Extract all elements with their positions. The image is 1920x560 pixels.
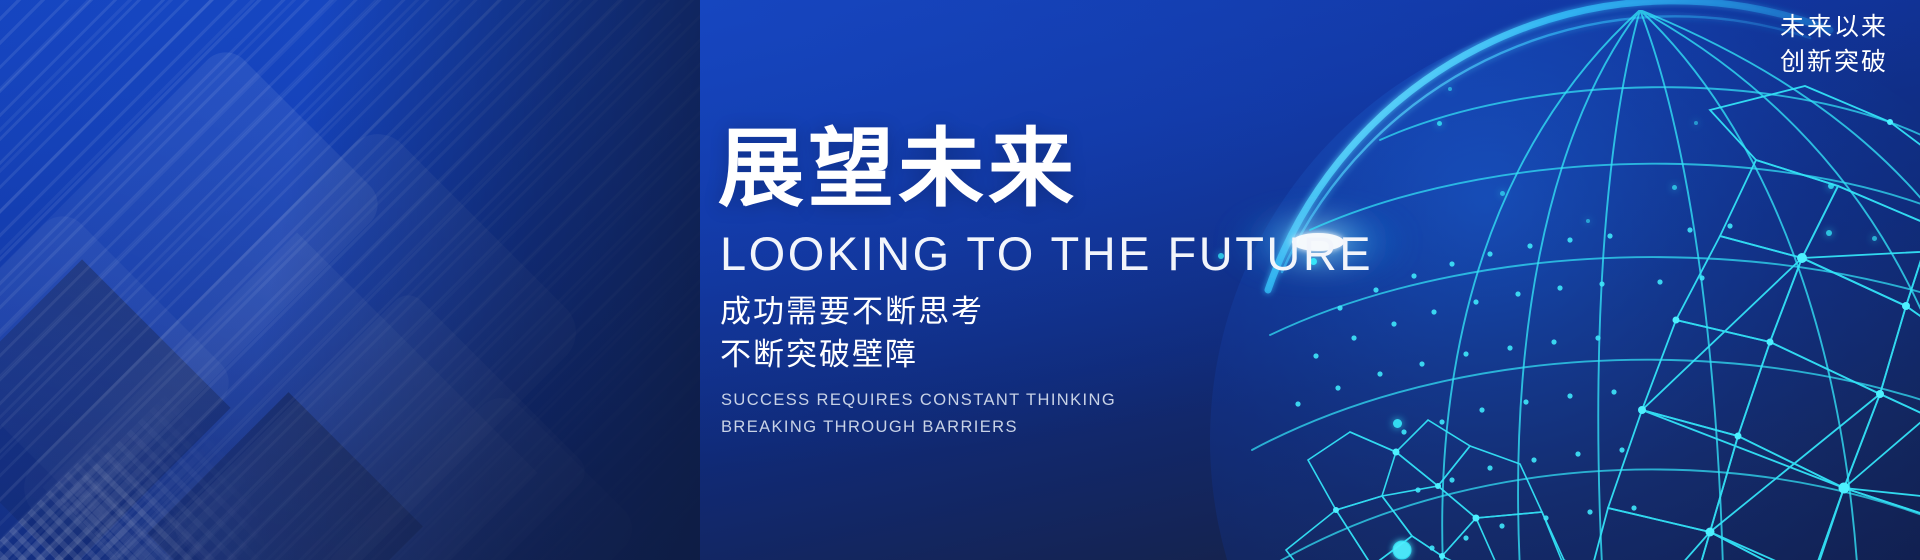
subtitle-chinese-line-1: 成功需要不断思考 <box>720 291 1338 332</box>
left-decoration-art <box>0 0 700 560</box>
corner-tagline: 未来以来 创新突破 <box>1780 10 1888 79</box>
tagline-line-1: 未来以来 <box>1780 10 1888 45</box>
subtitle-english-line-1: SUCCESS REQUIRES CONSTANT THINKING <box>721 387 1338 414</box>
headline-block: 展望未来 LOOKING TO THE FUTURE 成功需要不断思考 不断突破… <box>718 126 1338 441</box>
page-title-english: LOOKING TO THE FUTURE <box>720 228 1338 281</box>
banner-root: 展望未来 LOOKING TO THE FUTURE 成功需要不断思考 不断突破… <box>0 0 1920 560</box>
subtitle-chinese-line-2: 不断突破壁障 <box>720 334 1338 375</box>
left-fade-overlay <box>0 0 700 560</box>
subtitle-english-line-2: BREAKING THROUGH BARRIERS <box>721 414 1338 441</box>
tagline-line-2: 创新突破 <box>1780 45 1888 80</box>
page-title-chinese: 展望未来 <box>718 126 1338 212</box>
